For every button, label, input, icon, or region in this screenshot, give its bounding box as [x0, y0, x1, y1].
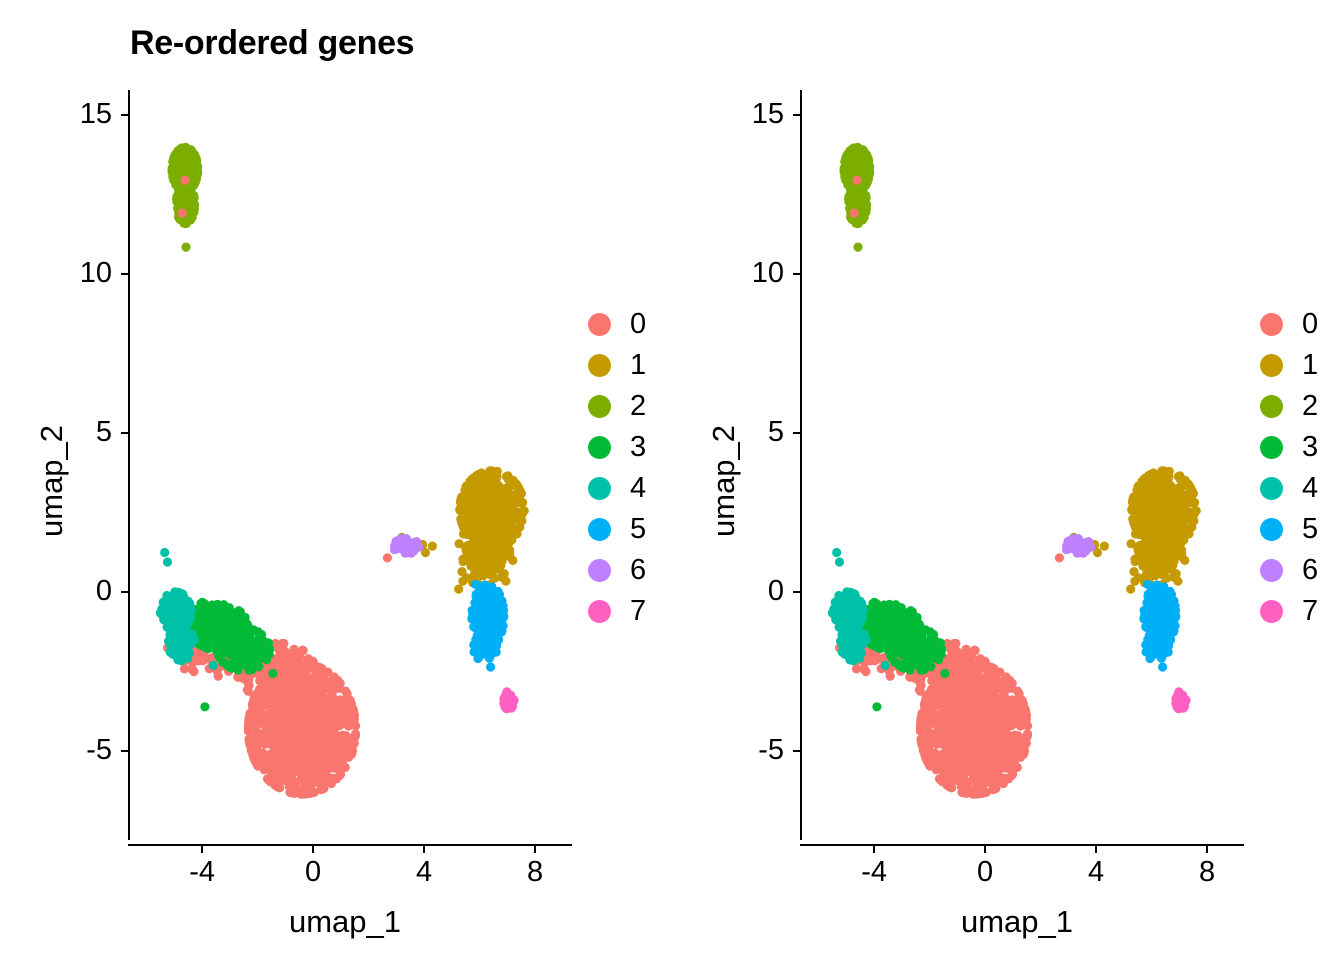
- legend-key-dot-icon-6: [588, 559, 611, 582]
- legend-key-dot-icon-2: [1260, 395, 1283, 418]
- y-tick-right-0: [793, 750, 800, 752]
- x-tick-left-0: [201, 846, 203, 853]
- y-tick-label-left-0: -5: [20, 736, 112, 765]
- x-tick-left-1: [312, 846, 314, 853]
- legend-label-3: 3: [1302, 433, 1318, 462]
- y-tick-right-3: [793, 273, 800, 275]
- y-tick-left-4: [121, 114, 128, 116]
- umap-panel-right: -5051015-4048umap_1umap_201234567: [672, 0, 1344, 960]
- y-axis-title-right: umap_2: [708, 425, 739, 537]
- legend-item-1[interactable]: 1: [1260, 345, 1318, 386]
- cluster-5-points: [467, 580, 508, 672]
- legend-item-6[interactable]: 6: [588, 550, 646, 591]
- x-tick-left-2: [423, 846, 425, 853]
- legend-key-dot-icon-1: [1260, 354, 1283, 377]
- legend-item-7[interactable]: 7: [588, 591, 646, 632]
- y-tick-label-right-1: 0: [692, 577, 784, 606]
- legend-key-dot-icon-3: [1260, 436, 1283, 459]
- legend-label-1: 1: [1302, 351, 1318, 380]
- legend-key-dot-icon-6: [1260, 559, 1283, 582]
- legend-key-dot-icon-2: [588, 395, 611, 418]
- legend-label-0: 0: [630, 310, 646, 339]
- y-tick-right-2: [793, 432, 800, 434]
- legend-key-dot-icon-7: [588, 600, 611, 623]
- y-tick-label-right-4: 15: [692, 100, 784, 129]
- legend-key-dot-icon-1: [588, 354, 611, 377]
- cluster-0-points: [835, 176, 1064, 799]
- y-tick-label-right-0: -5: [692, 736, 784, 765]
- cluster-legend-left: 01234567: [588, 304, 646, 632]
- legend-label-3: 3: [630, 433, 646, 462]
- x-tick-left-3: [534, 846, 536, 853]
- legend-item-5[interactable]: 5: [588, 509, 646, 550]
- y-tick-left-0: [121, 750, 128, 752]
- y-tick-label-left-4: 15: [20, 100, 112, 129]
- x-tick-right-1: [984, 846, 986, 853]
- cluster-6-points: [1062, 534, 1095, 558]
- x-tick-label-right-2: 4: [1046, 858, 1146, 887]
- legend-label-0: 0: [1302, 310, 1318, 339]
- x-tick-label-right-0: -4: [824, 858, 924, 887]
- y-axis-line-left: [128, 90, 130, 840]
- legend-label-5: 5: [630, 515, 646, 544]
- legend-label-7: 7: [630, 597, 646, 626]
- cluster-6-points: [390, 534, 423, 558]
- legend-label-5: 5: [1302, 515, 1318, 544]
- legend-item-0[interactable]: 0: [588, 304, 646, 345]
- y-tick-right-1: [793, 591, 800, 593]
- y-tick-left-3: [121, 273, 128, 275]
- cluster-1-points: [1090, 466, 1201, 593]
- cluster-7-points: [1171, 687, 1190, 713]
- y-tick-label-left-1: 0: [20, 577, 112, 606]
- x-tick-label-right-1: 0: [935, 858, 1035, 887]
- cluster-legend-right: 01234567: [1260, 304, 1318, 632]
- legend-item-1[interactable]: 1: [588, 345, 646, 386]
- x-tick-right-0: [873, 846, 875, 853]
- legend-item-4[interactable]: 4: [588, 468, 646, 509]
- y-tick-left-2: [121, 432, 128, 434]
- legend-item-4[interactable]: 4: [1260, 468, 1318, 509]
- cluster-7-points: [499, 687, 518, 713]
- legend-label-7: 7: [1302, 597, 1318, 626]
- x-tick-label-left-3: 8: [485, 858, 585, 887]
- y-axis-line-right: [800, 90, 802, 840]
- y-tick-label-left-3: 10: [20, 259, 112, 288]
- legend-item-6[interactable]: 6: [1260, 550, 1318, 591]
- legend-label-2: 2: [1302, 392, 1318, 421]
- legend-label-6: 6: [1302, 556, 1318, 585]
- x-axis-title-right: umap_1: [742, 906, 1292, 937]
- legend-item-3[interactable]: 3: [588, 427, 646, 468]
- legend-label-4: 4: [630, 474, 646, 503]
- cluster-0-points: [163, 176, 392, 799]
- x-tick-label-left-0: -4: [152, 858, 252, 887]
- legend-item-7[interactable]: 7: [1260, 591, 1318, 632]
- legend-label-4: 4: [1302, 474, 1318, 503]
- x-axis-title-left: umap_1: [70, 906, 620, 937]
- legend-item-3[interactable]: 3: [1260, 427, 1318, 468]
- legend-key-dot-icon-4: [588, 477, 611, 500]
- legend-key-dot-icon-4: [1260, 477, 1283, 500]
- y-tick-left-1: [121, 591, 128, 593]
- legend-key-dot-icon-0: [588, 313, 611, 336]
- legend-key-dot-icon-3: [588, 436, 611, 459]
- legend-key-dot-icon-5: [1260, 518, 1283, 541]
- scatter-points-left: [0, 0, 672, 960]
- legend-label-2: 2: [630, 392, 646, 421]
- x-tick-label-left-1: 0: [263, 858, 363, 887]
- umap-figure: Re-ordered genes -5051015-4048umap_1umap…: [0, 0, 1344, 960]
- x-tick-label-left-2: 4: [374, 858, 474, 887]
- y-axis-title-left: umap_2: [36, 425, 67, 537]
- cluster-5-points: [1139, 580, 1180, 672]
- legend-item-5[interactable]: 5: [1260, 509, 1318, 550]
- legend-key-dot-icon-7: [1260, 600, 1283, 623]
- x-tick-right-2: [1095, 846, 1097, 853]
- y-tick-right-4: [793, 114, 800, 116]
- x-tick-right-3: [1206, 846, 1208, 853]
- x-axis-line-right: [800, 844, 1244, 846]
- y-tick-label-right-3: 10: [692, 259, 784, 288]
- legend-item-2[interactable]: 2: [1260, 386, 1318, 427]
- legend-label-1: 1: [630, 351, 646, 380]
- legend-item-2[interactable]: 2: [588, 386, 646, 427]
- cluster-1-points: [418, 466, 529, 593]
- x-tick-label-right-3: 8: [1157, 858, 1257, 887]
- scatter-points-right: [672, 0, 1344, 960]
- umap-panel-left: -5051015-4048umap_1umap_201234567: [0, 0, 672, 960]
- legend-item-0[interactable]: 0: [1260, 304, 1318, 345]
- legend-label-6: 6: [630, 556, 646, 585]
- legend-key-dot-icon-5: [588, 518, 611, 541]
- legend-key-dot-icon-0: [1260, 313, 1283, 336]
- x-axis-line-left: [128, 844, 572, 846]
